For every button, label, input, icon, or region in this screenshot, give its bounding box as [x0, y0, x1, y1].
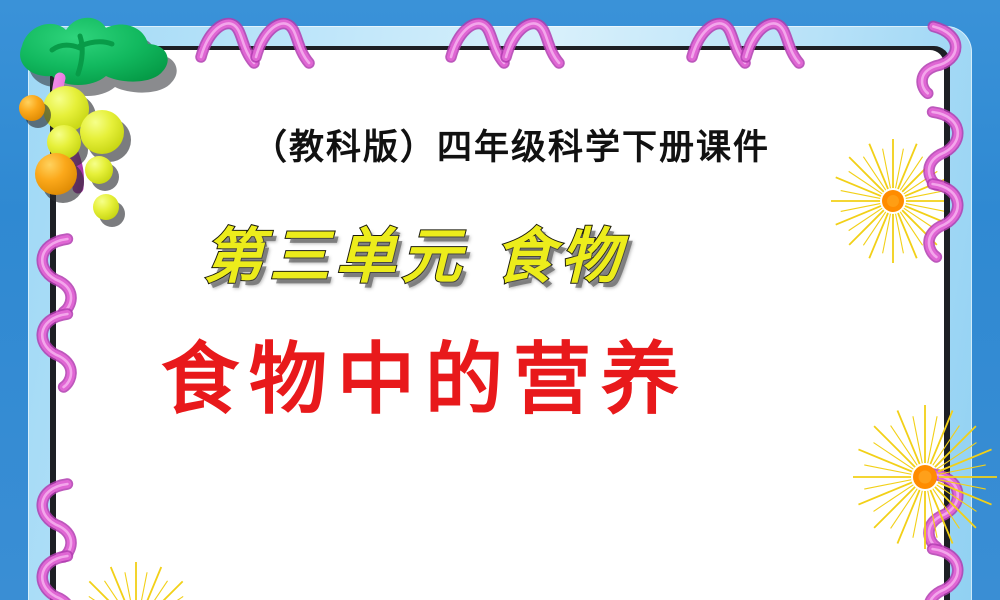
lesson-title: 食物中的营养: [56, 341, 944, 419]
presentation-slide: （教科版）四年级科学下册课件 第三单元 食物 食物中的营养: [0, 0, 1000, 600]
course-subtitle: （教科版）四年级科学下册课件: [56, 130, 944, 165]
slide-content-page: （教科版）四年级科学下册课件 第三单元 食物 食物中的营养: [56, 50, 944, 600]
slide-text-block: （教科版）四年级科学下册课件 第三单元 食物 食物中的营养: [56, 130, 944, 419]
unit-heading: 第三单元 食物: [56, 227, 944, 287]
